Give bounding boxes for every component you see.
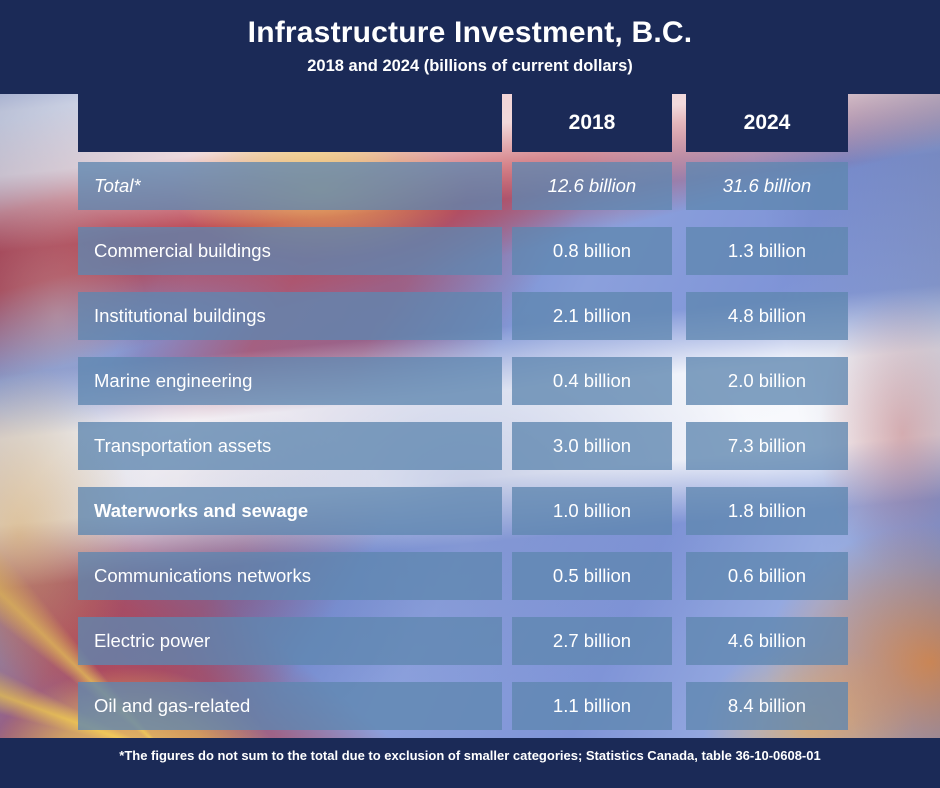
row-value-2024: 4.6 billion [686,617,848,665]
table-row: Marine engineering 0.4 billion 2.0 billi… [0,357,940,422]
data-table: 2018 2024 Total* 12.6 billion 31.6 billi… [0,94,940,747]
row-category: Commercial buildings [78,227,502,275]
row-value-2024: 4.8 billion [686,292,848,340]
row-value-2018: 3.0 billion [512,422,672,470]
footnote-text: *The figures do not sum to the total due… [0,748,940,763]
row-category: Institutional buildings [78,292,502,340]
table-row: Commercial buildings 0.8 billion 1.3 bil… [0,227,940,292]
row-value-2018: 1.0 billion [512,487,672,535]
row-value-2024: 7.3 billion [686,422,848,470]
row-value-2024: 2.0 billion [686,357,848,405]
table-row: Total* 12.6 billion 31.6 billion [0,162,940,227]
table-header-row: 2018 2024 [0,94,940,162]
header-banner: Infrastructure Investment, B.C. 2018 and… [0,0,940,94]
table-header-2018: 2018 [512,94,672,152]
row-value-2018: 12.6 billion [512,162,672,210]
row-value-2024: 1.3 billion [686,227,848,275]
row-category: Waterworks and sewage [78,487,502,535]
row-value-2018: 0.8 billion [512,227,672,275]
row-value-2024: 0.6 billion [686,552,848,600]
row-value-2018: 0.4 billion [512,357,672,405]
row-category: Marine engineering [78,357,502,405]
row-value-2018: 1.1 billion [512,682,672,730]
row-value-2024: 31.6 billion [686,162,848,210]
row-value-2024: 8.4 billion [686,682,848,730]
table-row: Institutional buildings 2.1 billion 4.8 … [0,292,940,357]
row-value-2024: 1.8 billion [686,487,848,535]
table-header-2024: 2024 [686,94,848,152]
row-category: Electric power [78,617,502,665]
page-subtitle: 2018 and 2024 (billions of current dolla… [0,49,940,76]
row-category: Oil and gas-related [78,682,502,730]
row-category: Communications networks [78,552,502,600]
table-row: Communications networks 0.5 billion 0.6 … [0,552,940,617]
infographic-page: Infrastructure Investment, B.C. 2018 and… [0,0,940,788]
table-row: Waterworks and sewage 1.0 billion 1.8 bi… [0,487,940,552]
page-title: Infrastructure Investment, B.C. [0,0,940,49]
footnote-banner [0,738,940,788]
row-category: Total* [78,162,502,210]
table-header-blank [78,94,502,152]
row-category: Transportation assets [78,422,502,470]
row-value-2018: 2.1 billion [512,292,672,340]
table-row: Electric power 2.7 billion 4.6 billion [0,617,940,682]
table-row: Transportation assets 3.0 billion 7.3 bi… [0,422,940,487]
row-value-2018: 2.7 billion [512,617,672,665]
row-value-2018: 0.5 billion [512,552,672,600]
